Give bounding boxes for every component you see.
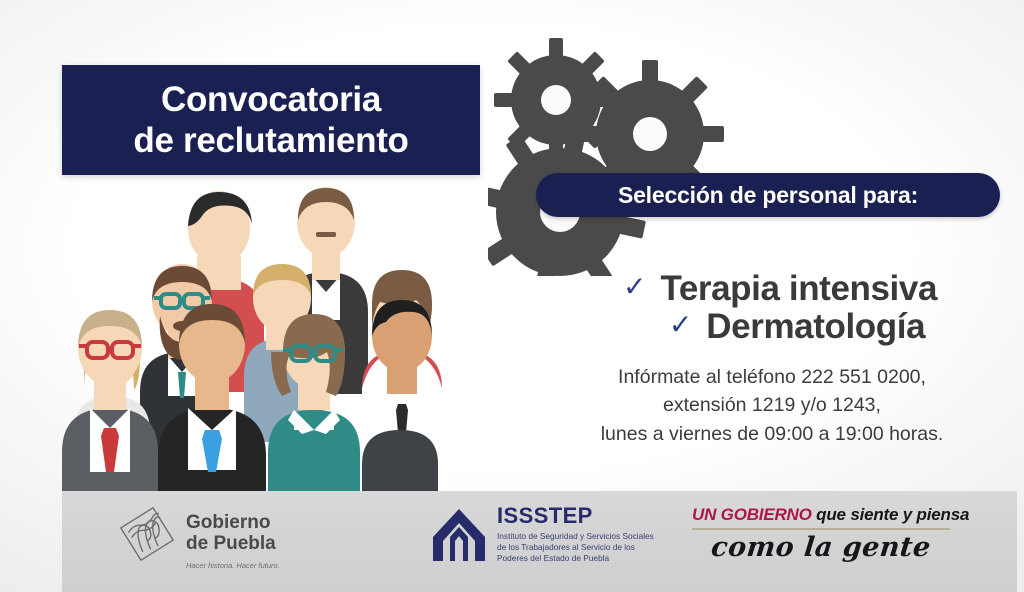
government-slogan: UN GOBIERNO que siente y piensa como la … (692, 505, 982, 563)
poster-title-banner: Convocatoria de reclutamiento (62, 65, 480, 175)
check-icon: ✓ (623, 273, 646, 301)
contact-info: Infórmate al teléfono 222 551 0200, exte… (540, 363, 1004, 448)
puebla-state-emblem-icon (118, 503, 176, 565)
specialty-label-0: Terapia intensiva (660, 270, 937, 308)
slogan-rest: que siente y piensa (816, 505, 969, 524)
specialty-item-0: ✓ Terapia intensiva (560, 270, 1000, 308)
gobierno-de-puebla-logo: Gobierno de Puebla Hacer historia. Hacer… (118, 503, 280, 570)
page-title-line-2: de reclutamiento (133, 120, 408, 161)
gobierno-tagline: Hacer historia. Hacer futuro. (186, 561, 280, 570)
specialty-item-1: ✓ Dermatología (560, 308, 1000, 346)
specialty-label-1: Dermatología (706, 308, 925, 346)
slogan-divider (692, 528, 950, 530)
footer-band: Gobierno de Puebla Hacer historia. Hacer… (62, 491, 1017, 592)
gobierno-name-line-2: de Puebla (186, 533, 280, 554)
specialty-list: ✓ Terapia intensiva ✓ Dermatología (560, 270, 1000, 346)
check-icon: ✓ (669, 311, 692, 339)
issstep-arch-icon (430, 503, 488, 565)
recruitment-poster: Convocatoria de reclutamiento (0, 0, 1024, 592)
page-title-line-1: Convocatoria (161, 79, 381, 120)
gobierno-text: Gobierno de Puebla Hacer historia. Hacer… (186, 503, 280, 570)
people-group-illustration (62, 180, 532, 492)
selection-banner-label: Selección de personal para: (618, 182, 918, 209)
issstep-full-name: Instituto de Seguridad y Servicios Socia… (497, 531, 657, 564)
issstep-logo: ISSSTEP Instituto de Seguridad y Servici… (430, 503, 657, 565)
contact-line-3: lunes a viernes de 09:00 a 19:00 horas. (540, 420, 1004, 448)
slogan-line-1: UN GOBIERNO que siente y piensa (692, 505, 982, 525)
person-front-far-right (362, 430, 438, 492)
issstep-acronym: ISSSTEP (497, 505, 657, 527)
issstep-text: ISSSTEP Instituto de Seguridad y Servici… (497, 503, 657, 564)
slogan-script: como la gente (690, 532, 951, 563)
contact-line-1: Infórmate al teléfono 222 551 0200, (540, 363, 1004, 391)
contact-line-2: extensión 1219 y/o 1243, (540, 391, 1004, 419)
gobierno-name-line-1: Gobierno (186, 512, 280, 533)
slogan-strong: UN GOBIERNO (692, 505, 812, 524)
selection-banner: Selección de personal para: (536, 173, 1000, 217)
